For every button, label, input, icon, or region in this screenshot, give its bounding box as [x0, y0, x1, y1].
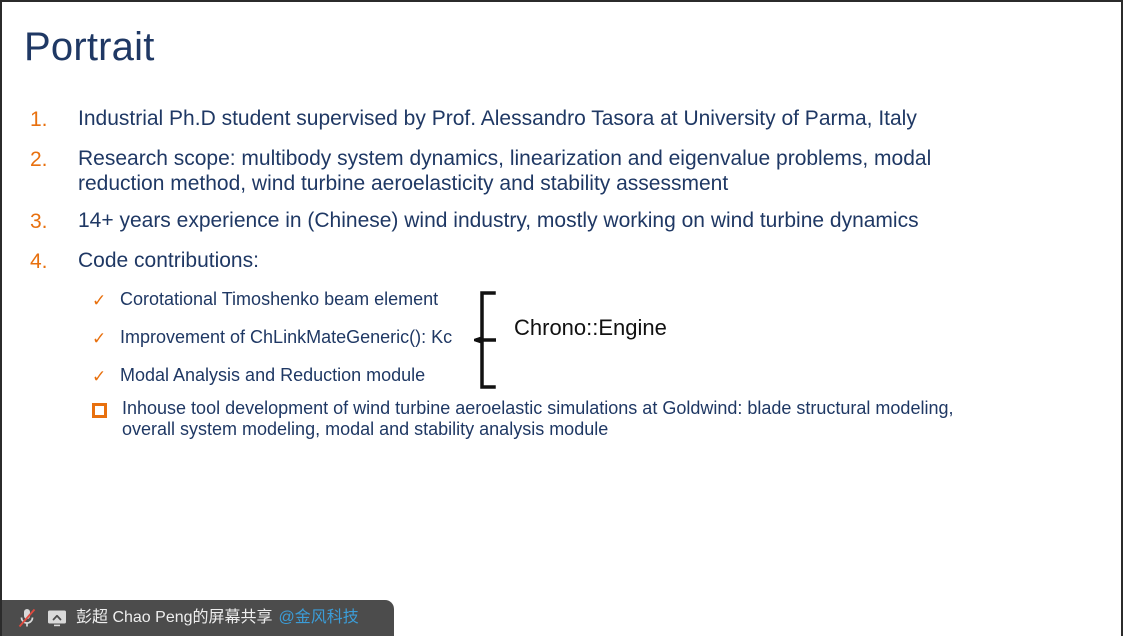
list-item: Inhouse tool development of wind turbine…	[92, 398, 1022, 440]
screen-share-status-bar[interactable]: 彭超 Chao Peng的屏幕共享 @金风科技	[2, 600, 394, 636]
hollow-square-bullet-icon	[92, 398, 122, 418]
checkmark-sublist: ✓ Corotational Timoshenko beam element ✓…	[92, 288, 522, 402]
brace-label: Chrono::Engine	[514, 314, 667, 342]
list-item-marker: 3.	[28, 208, 78, 236]
list-item: ✓ Modal Analysis and Reduction module	[92, 364, 522, 402]
list-item-text: Modal Analysis and Reduction module	[120, 364, 522, 386]
numbered-list: 1. Industrial Ph.D student supervised by…	[28, 106, 1028, 288]
list-item: ✓ Corotational Timoshenko beam element	[92, 288, 522, 326]
list-item: 1. Industrial Ph.D student supervised by…	[28, 106, 1028, 134]
check-icon: ✓	[92, 326, 120, 350]
square-bullet-list: Inhouse tool development of wind turbine…	[92, 398, 1022, 440]
list-item-text: Corotational Timoshenko beam element	[120, 288, 522, 310]
brace-annotation: Chrono::Engine	[474, 290, 704, 390]
list-item-marker: 1.	[28, 106, 78, 134]
list-item-text: 14+ years experience in (Chinese) wind i…	[78, 208, 1008, 233]
share-status-label: 彭超 Chao Peng的屏幕共享	[76, 608, 273, 628]
list-item-marker: 4.	[28, 248, 78, 276]
microphone-muted-icon[interactable]	[12, 605, 42, 631]
curly-brace-icon	[474, 290, 514, 390]
list-item-text: Industrial Ph.D student supervised by Pr…	[78, 106, 1008, 131]
list-item: 3. 14+ years experience in (Chinese) win…	[28, 208, 1028, 236]
list-item: 4. Code contributions:	[28, 248, 1028, 276]
page-title: Portrait	[24, 23, 155, 71]
list-item-marker: 2.	[28, 146, 78, 174]
check-icon: ✓	[92, 364, 120, 388]
list-item-text: Improvement of ChLinkMateGeneric(): Kc	[120, 326, 522, 348]
check-icon: ✓	[92, 288, 120, 312]
share-organization-label: @金风科技	[279, 608, 359, 628]
list-item: 2. Research scope: multibody system dyna…	[28, 146, 1028, 196]
presentation-slide: Portrait 1. Industrial Ph.D student supe…	[0, 0, 1123, 636]
list-item-text: Inhouse tool development of wind turbine…	[122, 398, 1002, 440]
screen-share-icon[interactable]	[42, 605, 72, 631]
list-item-text: Research scope: multibody system dynamic…	[78, 146, 1008, 196]
list-item: ✓ Improvement of ChLinkMateGeneric(): Kc	[92, 326, 522, 364]
list-item-text: Code contributions:	[78, 248, 1008, 273]
